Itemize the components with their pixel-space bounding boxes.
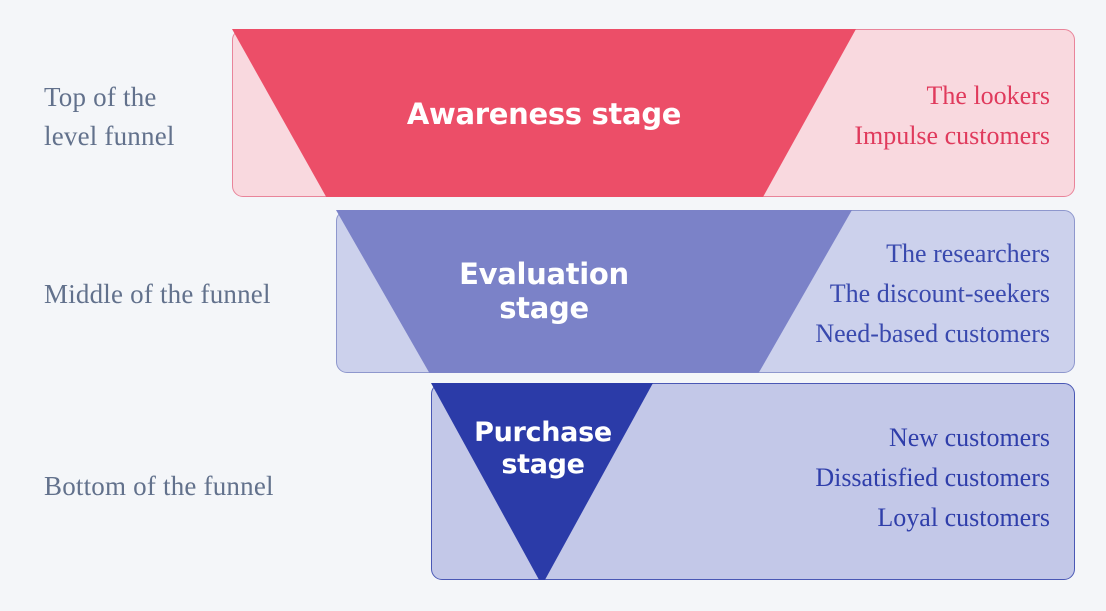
persona-list-evaluation: The researchers The discount-seekers Nee… bbox=[630, 234, 1050, 353]
persona-item: The discount-seekers bbox=[630, 274, 1050, 314]
persona-list-awareness: The lookers Impulse customers bbox=[630, 76, 1050, 156]
persona-item: New customers bbox=[630, 418, 1050, 458]
persona-item: The lookers bbox=[630, 76, 1050, 116]
persona-item: Loyal customers bbox=[630, 498, 1050, 538]
persona-list-purchase: New customers Dissatisfied customers Loy… bbox=[630, 418, 1050, 537]
persona-item: The researchers bbox=[630, 234, 1050, 274]
funnel-stage-title-purchase: Purchase stage bbox=[448, 417, 638, 481]
funnel-side-label-bottom: Bottom of the funnel bbox=[44, 467, 354, 506]
funnel-side-label-middle: Middle of the funnel bbox=[44, 275, 344, 314]
persona-item: Dissatisfied customers bbox=[630, 458, 1050, 498]
funnel-side-label-top: Top of the level funnel bbox=[44, 78, 234, 157]
persona-item: Need-based customers bbox=[630, 314, 1050, 354]
funnel-diagram-canvas: Top of the level funnel Awareness stage … bbox=[0, 0, 1106, 611]
persona-item: Impulse customers bbox=[630, 116, 1050, 156]
